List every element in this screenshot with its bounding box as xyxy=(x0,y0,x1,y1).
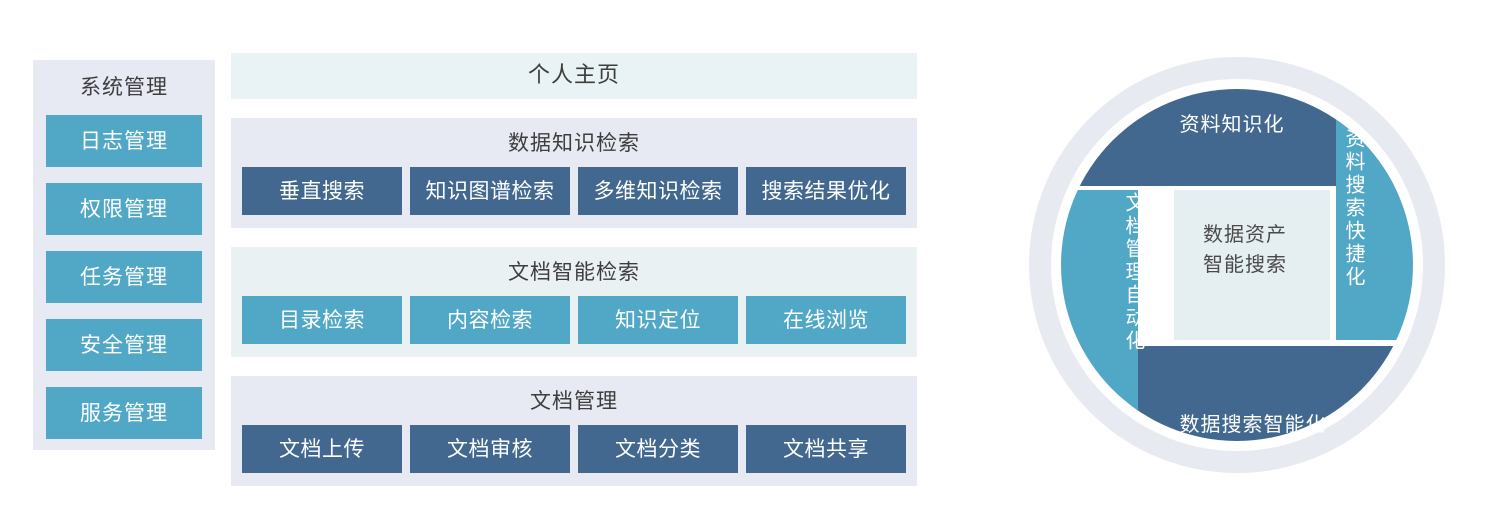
panel-document-management: 文档管理 文档上传 文档审核 文档分类 文档共享 xyxy=(231,376,917,486)
button-multidimensional-knowledge-search[interactable]: 多维知识检索 xyxy=(578,167,738,215)
main-panel-stack: 个人主页 数据知识检索 垂直搜索 知识图谱检索 多维知识检索 搜索结果优化 文档… xyxy=(231,53,917,486)
button-online-browse[interactable]: 在线浏览 xyxy=(746,296,906,344)
circle-diagram: 资料知识化 资料搜索快捷化 数据搜索智能化 文档管理自动化 数据资产 智能搜索 xyxy=(1028,56,1446,474)
panel-button-row: 目录检索 内容检索 知识定位 在线浏览 xyxy=(242,296,906,344)
sidebar-item-security-management[interactable]: 安全管理 xyxy=(46,319,202,371)
button-knowledge-location[interactable]: 知识定位 xyxy=(578,296,738,344)
sidebar-item-log-management[interactable]: 日志管理 xyxy=(46,115,202,167)
button-document-upload[interactable]: 文档上传 xyxy=(242,425,402,473)
panel-button-row: 文档上传 文档审核 文档分类 文档共享 xyxy=(242,425,906,473)
button-document-classification[interactable]: 文档分类 xyxy=(578,425,738,473)
circle-diagram-svg xyxy=(1028,56,1446,474)
button-knowledge-graph-search[interactable]: 知识图谱检索 xyxy=(410,167,570,215)
sidebar: 系统管理 日志管理 权限管理 任务管理 安全管理 服务管理 xyxy=(33,60,215,450)
panel-data-knowledge-search: 数据知识检索 垂直搜索 知识图谱检索 多维知识检索 搜索结果优化 xyxy=(231,118,917,228)
panel-button-row: 垂直搜索 知识图谱检索 多维知识检索 搜索结果优化 xyxy=(242,167,906,215)
sidebar-title: 系统管理 xyxy=(33,60,215,115)
panel-title: 文档智能检索 xyxy=(242,255,906,289)
panel-title: 数据知识检索 xyxy=(242,126,906,160)
button-document-review[interactable]: 文档审核 xyxy=(410,425,570,473)
sidebar-item-service-management[interactable]: 服务管理 xyxy=(46,387,202,439)
panel-title: 文档管理 xyxy=(242,384,906,418)
panel-document-intelligent-search: 文档智能检索 目录检索 内容检索 知识定位 在线浏览 xyxy=(231,247,917,357)
button-directory-search[interactable]: 目录检索 xyxy=(242,296,402,344)
button-search-result-optimization[interactable]: 搜索结果优化 xyxy=(746,167,906,215)
button-document-sharing[interactable]: 文档共享 xyxy=(746,425,906,473)
center-box[interactable] xyxy=(1174,190,1330,340)
button-content-search[interactable]: 内容检索 xyxy=(410,296,570,344)
button-vertical-search[interactable]: 垂直搜索 xyxy=(242,167,402,215)
sidebar-item-task-management[interactable]: 任务管理 xyxy=(46,251,202,303)
sidebar-item-permission-management[interactable]: 权限管理 xyxy=(46,183,202,235)
home-page-bar[interactable]: 个人主页 xyxy=(231,53,917,99)
